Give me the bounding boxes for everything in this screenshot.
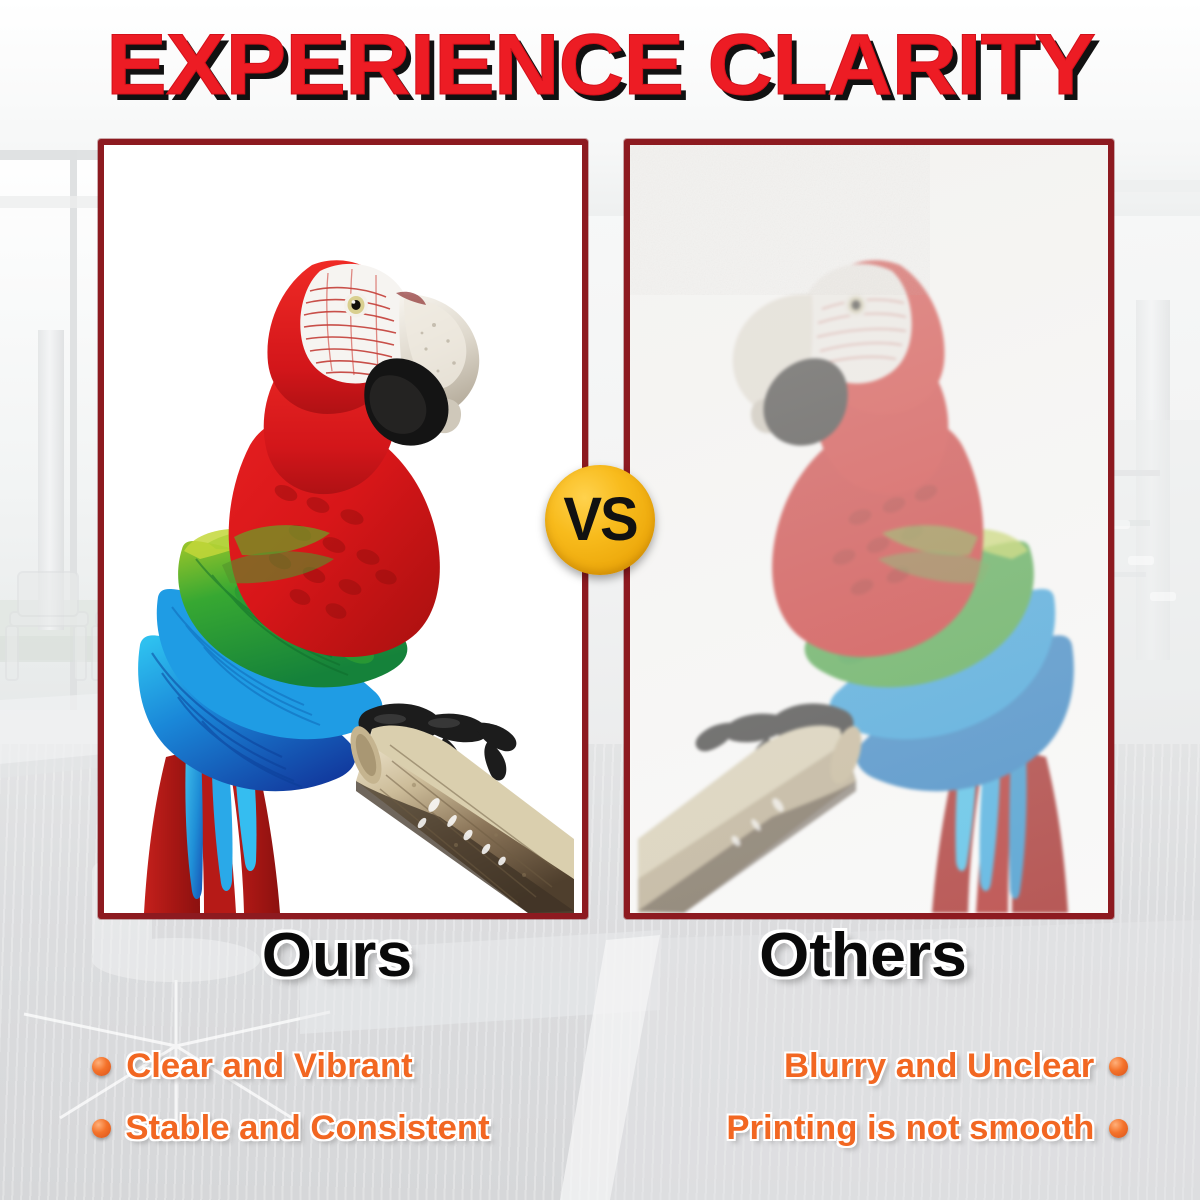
headline-text: EXPERIENCE CLARITY [106,22,1095,108]
bullet-dot-icon [1109,1119,1128,1138]
bullet-item: Blurry and Unclear [620,1035,1140,1097]
comparison-panel-others [624,139,1114,919]
comparison-panel-ours [98,139,588,919]
caption-ours: Ours [88,925,585,987]
bullet-text: Clear and Vibrant [126,1047,413,1086]
bullet-text: Stable and Consistent [125,1109,489,1148]
bullet-list-others: Blurry and Unclear Printing is not smoot… [620,1035,1140,1159]
bullet-dot-icon [1109,1057,1128,1076]
macaw-illustration [104,145,582,913]
caption-others: Others [614,925,1111,987]
vs-badge: VS [545,465,655,575]
bullet-text: Printing is not smooth [727,1109,1095,1148]
vs-label: VS [563,489,636,550]
macaw-photo-degraded [630,145,1108,913]
bullet-dot-icon [92,1057,111,1076]
bullet-item: Stable and Consistent [80,1097,600,1159]
macaw-illustration-mirrored [630,145,1108,913]
bullet-list-ours: Clear and Vibrant Stable and Consistent [80,1035,600,1159]
bullet-item: Printing is not smooth [620,1097,1140,1159]
bullet-text: Blurry and Unclear [784,1047,1094,1086]
page-title: EXPERIENCE CLARITY [0,10,1200,120]
bullet-dot-icon [92,1119,111,1138]
macaw-photo-sharp [104,145,582,913]
bullet-item: Clear and Vibrant [80,1035,600,1097]
